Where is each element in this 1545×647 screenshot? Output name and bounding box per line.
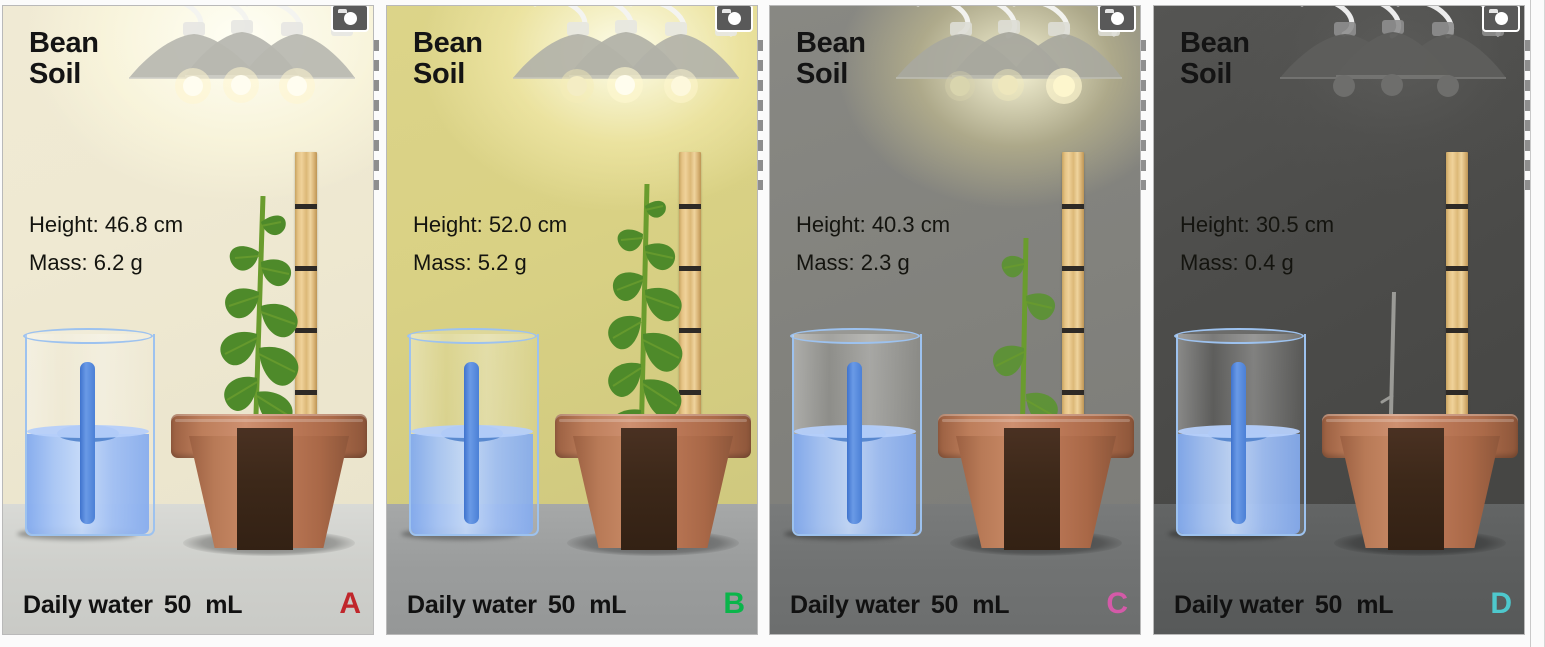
beaker-lip [1174, 328, 1304, 344]
plant-type-label: Bean [796, 28, 866, 59]
flower-pot [1322, 400, 1518, 550]
medium-label: Soil [29, 59, 99, 90]
panel-footer: Daily water 50 mL B [407, 589, 745, 620]
stir-rod [847, 362, 862, 524]
medium-label: Soil [1180, 59, 1250, 90]
camera-icon[interactable] [331, 5, 369, 32]
daily-water-label: Daily water [407, 591, 537, 620]
daily-water-amount: 50 [548, 591, 575, 620]
camera-lens [1495, 12, 1508, 25]
beaker-lip [23, 328, 153, 344]
water-beaker [21, 326, 155, 538]
stir-rod [464, 362, 479, 524]
drag-handle-icon[interactable] [1141, 40, 1146, 190]
scene-c: Bean Soil Height: 40.3 cm Mass: 2.3 g Da… [770, 6, 1140, 634]
measurement-readout: Height: 52.0 cm Mass: 5.2 g [413, 206, 567, 282]
daily-water-amount: 50 [1315, 591, 1342, 620]
panel-letter-c: C [1106, 589, 1128, 619]
plant-type-label: Bean [1180, 28, 1250, 59]
panel-title: Bean Soil [1180, 28, 1250, 91]
flower-pot [938, 400, 1134, 550]
daily-water-label: Daily water [790, 591, 920, 620]
experiment-panel-c[interactable]: Bean Soil Height: 40.3 cm Mass: 2.3 g Da… [769, 5, 1141, 635]
plant-type-label: Bean [413, 28, 483, 59]
daily-water-unit: mL [205, 591, 242, 620]
mass-readout: Mass: 5.2 g [413, 244, 567, 282]
plant-type-label: Bean [29, 28, 99, 59]
page-divider [1530, 0, 1531, 647]
camera-lens [1111, 12, 1124, 25]
daily-water-amount: 50 [931, 591, 958, 620]
measurement-readout: Height: 30.5 cm Mass: 0.4 g [1180, 206, 1334, 282]
camera-lens [344, 12, 357, 25]
panel-title: Bean Soil [29, 28, 99, 91]
daily-water-unit: mL [589, 591, 626, 620]
panel-footer: Daily water 50 mL A [23, 589, 361, 620]
camera-icon[interactable] [1098, 5, 1136, 32]
experiment-panel-a[interactable]: Bean Soil Height: 46.8 cm Mass: 6.2 g Da… [2, 5, 374, 635]
camera-viewfinder-bump [1489, 9, 1498, 13]
pot-soil [1004, 428, 1060, 550]
water-beaker [405, 326, 539, 538]
pot-soil [237, 428, 293, 550]
daily-water-amount: 50 [164, 591, 191, 620]
panel-title: Bean Soil [413, 28, 483, 91]
scene-a: Bean Soil Height: 46.8 cm Mass: 6.2 g Da… [3, 6, 373, 634]
scene-b: Bean Soil Height: 52.0 cm Mass: 5.2 g Da… [387, 6, 757, 634]
stir-rod [80, 362, 95, 524]
beaker-lip [407, 328, 537, 344]
drag-handle-icon[interactable] [1525, 40, 1530, 190]
height-readout: Height: 52.0 cm [413, 206, 567, 244]
scene-d: Bean Soil Height: 30.5 cm Mass: 0.4 g Da… [1154, 6, 1524, 634]
pot-soil [1388, 428, 1444, 550]
height-readout: Height: 46.8 cm [29, 206, 183, 244]
drag-handle-icon[interactable] [758, 40, 763, 190]
panel-footer: Daily water 50 mL D [1174, 589, 1512, 620]
daily-water-unit: mL [1356, 591, 1393, 620]
height-readout: Height: 30.5 cm [1180, 206, 1334, 244]
experiment-panel-b[interactable]: Bean Soil Height: 52.0 cm Mass: 5.2 g Da… [386, 5, 758, 635]
flower-pot [171, 400, 367, 550]
daily-water-label: Daily water [23, 591, 153, 620]
stir-rod [1231, 362, 1246, 524]
measurement-readout: Height: 46.8 cm Mass: 6.2 g [29, 206, 183, 282]
pot-soil [621, 428, 677, 550]
mass-readout: Mass: 0.4 g [1180, 244, 1334, 282]
panel-footer: Daily water 50 mL C [790, 589, 1128, 620]
panel-letter-b: B [723, 589, 745, 619]
water-beaker [788, 326, 922, 538]
camera-viewfinder-bump [1105, 9, 1114, 13]
height-readout: Height: 40.3 cm [796, 206, 950, 244]
mass-readout: Mass: 2.3 g [796, 244, 950, 282]
medium-label: Soil [796, 59, 866, 90]
drag-handle-icon[interactable] [374, 40, 379, 190]
camera-viewfinder-bump [722, 9, 731, 13]
daily-water-label: Daily water [1174, 591, 1304, 620]
camera-lens [728, 12, 741, 25]
panel-letter-d: D [1490, 589, 1512, 619]
camera-icon[interactable] [1482, 5, 1520, 32]
camera-viewfinder-bump [338, 9, 347, 13]
medium-label: Soil [413, 59, 483, 90]
experiment-panel-d[interactable]: Bean Soil Height: 30.5 cm Mass: 0.4 g Da… [1153, 5, 1525, 635]
experiment-panels-stage: Bean Soil Height: 46.8 cm Mass: 6.2 g Da… [0, 0, 1545, 647]
panel-letter-a: A [339, 589, 361, 619]
water-beaker [1172, 326, 1306, 538]
flower-pot [555, 400, 751, 550]
panel-title: Bean Soil [796, 28, 866, 91]
daily-water-unit: mL [972, 591, 1009, 620]
mass-readout: Mass: 6.2 g [29, 244, 183, 282]
measurement-readout: Height: 40.3 cm Mass: 2.3 g [796, 206, 950, 282]
beaker-lip [790, 328, 920, 344]
camera-icon[interactable] [715, 5, 753, 32]
